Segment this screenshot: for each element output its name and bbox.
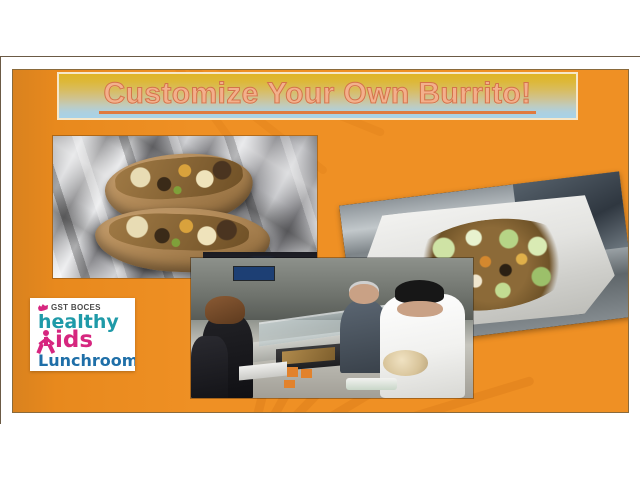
slide-title-banner[interactable]: Customize Your Own Burrito! bbox=[57, 72, 578, 120]
presentation-slide[interactable]: GST BOCES healthy ids Lunchroom bbox=[13, 70, 628, 412]
logo-word-ids: ids bbox=[55, 329, 93, 352]
healthy-kids-lunchroom-logo: GST BOCES healthy ids Lunchroom bbox=[30, 298, 135, 371]
second-student-in-line bbox=[191, 336, 228, 398]
menu-card bbox=[284, 380, 295, 388]
logo-word-kids-row: ids bbox=[38, 330, 129, 354]
top-divider bbox=[0, 56, 640, 57]
menu-card bbox=[301, 369, 312, 379]
running-child-icon bbox=[38, 330, 56, 353]
tortilla-stack bbox=[383, 350, 428, 375]
slide-viewer: GST BOCES healthy ids Lunchroom Customiz… bbox=[0, 0, 640, 480]
slide-title-text: Customize Your Own Burrito! bbox=[99, 78, 535, 115]
logo-word-lunchroom: Lunchroom bbox=[38, 353, 129, 369]
burrito-on-foil-photo[interactable] bbox=[53, 136, 317, 278]
menu-card bbox=[287, 367, 298, 377]
left-divider bbox=[0, 56, 1, 424]
wall-monitor bbox=[233, 266, 274, 281]
plate-stack bbox=[346, 378, 397, 389]
cafeteria-serving-line-photo[interactable] bbox=[191, 258, 473, 398]
